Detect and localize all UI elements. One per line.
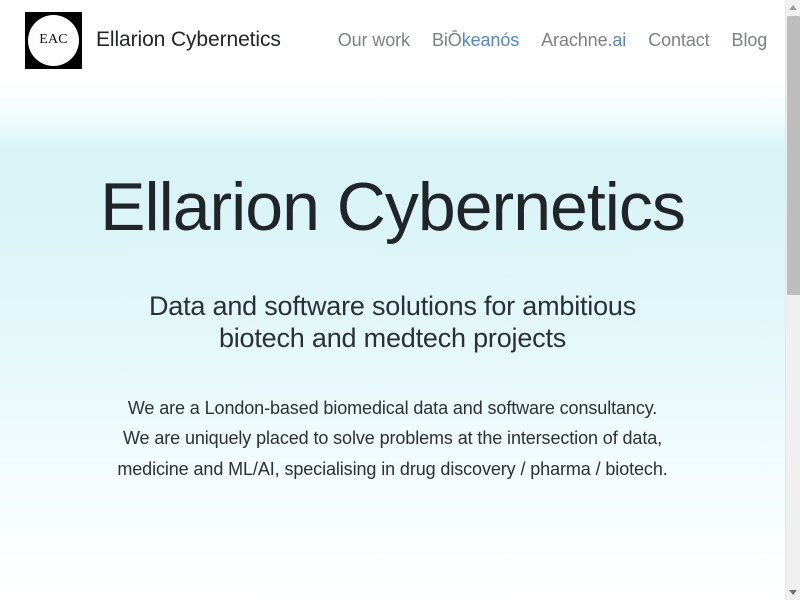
scrollbar-down-button[interactable] [786, 585, 800, 600]
scrollbar-up-button[interactable] [786, 0, 800, 15]
nav-link-blog-label: Blog [732, 30, 768, 50]
brand-name: Ellarion Cybernetics [96, 28, 281, 52]
page-title: Ellarion Cybernetics [0, 172, 785, 243]
scrollbar-thumb[interactable] [787, 16, 800, 295]
nav-link-biokeanos-label: BiŌ [432, 30, 462, 50]
nav-link-contact-label: Contact [648, 30, 709, 50]
nav-link-our-work-label: Our work [338, 30, 410, 50]
triangle-up-icon [789, 5, 797, 10]
nav-link-contact[interactable]: Contact [648, 30, 709, 51]
eac-monogram-logo-icon: EAC [25, 12, 82, 69]
triangle-down-icon [789, 590, 797, 595]
hero-section: Ellarion Cybernetics Data and software s… [0, 80, 785, 484]
site-header: EAC Ellarion Cybernetics Our work BiŌkea… [0, 0, 785, 80]
browser-viewport: EAC Ellarion Cybernetics Our work BiŌkea… [0, 0, 800, 600]
nav-link-blog[interactable]: Blog [732, 30, 768, 51]
hero-subtitle: Data and software solutions for ambitiou… [123, 291, 663, 355]
nav-link-our-work[interactable]: Our work [338, 30, 410, 51]
brand-home-link[interactable]: EAC Ellarion Cybernetics [25, 12, 281, 69]
vertical-scrollbar[interactable] [785, 0, 800, 600]
logo-monogram-text: EAC [39, 33, 68, 47]
page-content: EAC Ellarion Cybernetics Our work BiŌkea… [0, 0, 785, 600]
logo-circle: EAC [28, 15, 79, 66]
nav-link-biokeanos[interactable]: BiŌkeanós [432, 30, 519, 51]
nav-link-arachne-ai-accent: .ai [607, 30, 626, 50]
hero-body-text: We are a London-based biomedical data an… [113, 393, 673, 484]
nav-link-arachne-ai-label: Arachne [541, 30, 607, 50]
primary-navigation: Our work BiŌkeanós Arachne.ai Contact Bl… [338, 30, 767, 51]
nav-link-arachne-ai[interactable]: Arachne.ai [541, 30, 626, 51]
nav-link-biokeanos-accent: keanós [462, 30, 519, 50]
